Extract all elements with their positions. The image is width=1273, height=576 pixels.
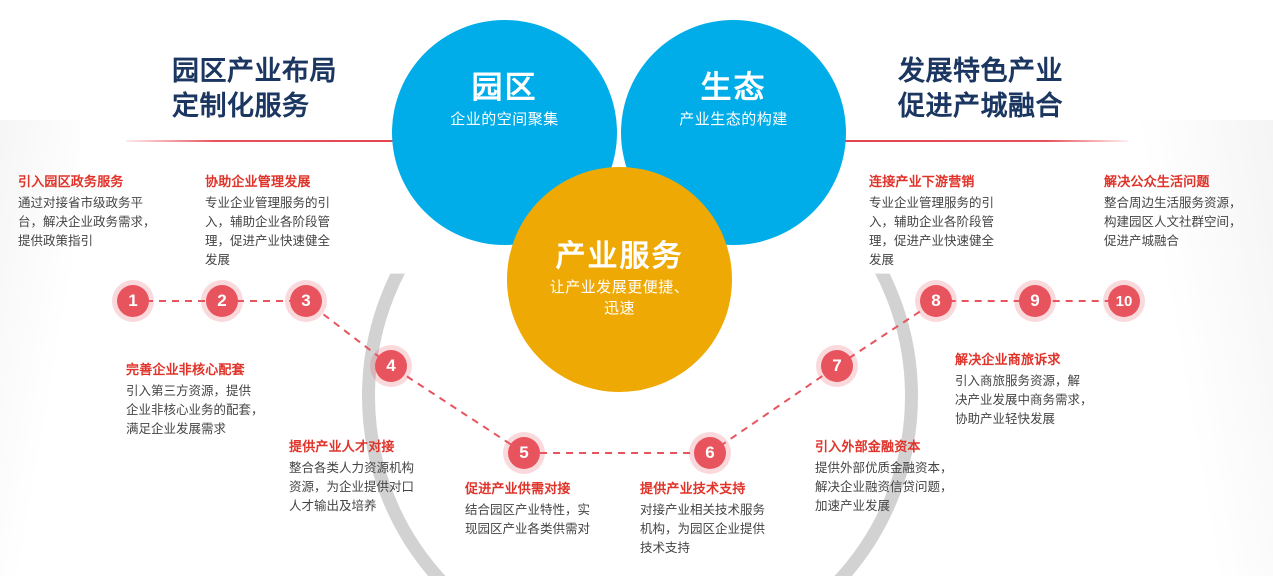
text-block-heading: 连接产业下游营销 <box>869 172 1047 192</box>
step-node-label: 3 <box>301 291 310 311</box>
text-block-body: 结合园区产业特性，实 现园区产业各类供需对 <box>465 501 635 539</box>
step-node-10[interactable]: 10 <box>1108 285 1140 317</box>
step-node-8[interactable]: 8 <box>920 285 952 317</box>
step-node-1[interactable]: 1 <box>117 285 149 317</box>
step-node-3[interactable]: 3 <box>290 285 322 317</box>
step-node-label: 1 <box>128 291 137 311</box>
step-node-9[interactable]: 9 <box>1019 285 1051 317</box>
text-block-provide-talent-matching: 提供产业人才对接整合各类人力资源机构 资源，为企业提供对口 人才输出及培养 <box>289 437 469 516</box>
bubble-ecosystem-subtitle: 产业生态的构建 <box>679 110 788 130</box>
text-block-body: 整合周边生活服务资源， 构建园区人文社群空间， 促进产城融合 <box>1104 194 1273 251</box>
step-node-label: 9 <box>1030 291 1039 311</box>
text-block-solve-business-travel: 解决企业商旅诉求引入商旅服务资源，解 决产业发展中商务需求， 协助产业轻快发展 <box>955 350 1145 429</box>
text-block-solve-public-living: 解决公众生活问题整合周边生活服务资源， 构建园区人文社群空间， 促进产城融合 <box>1104 172 1273 251</box>
text-block-provide-tech-support: 提供产业技术支持对接产业相关技术服务 机构，为园区企业提供 技术支持 <box>640 479 815 558</box>
text-block-heading: 引入外部金融资本 <box>815 437 1005 457</box>
step-node-label: 10 <box>1116 293 1133 310</box>
bubble-industry-service-title: 产业服务 <box>556 240 684 273</box>
text-block-heading: 促进产业供需对接 <box>465 479 635 499</box>
bubble-ecosystem-title: 生态 <box>701 71 767 105</box>
bubble-industry-service[interactable]: 产业服务 让产业发展更便捷、迅速 <box>507 167 732 392</box>
step-node-6[interactable]: 6 <box>694 437 726 469</box>
step-node-label: 6 <box>705 443 714 463</box>
text-block-body: 提供外部优质金融资本， 解决企业融资信贷问题， 加速产业发展 <box>815 459 1005 516</box>
infographic-canvas: 园区产业布局 定制化服务 发展特色产业 促进产城融合 园区 企业的空间聚集 生态… <box>0 0 1273 576</box>
text-block-body: 专业企业管理服务的引 入，辅助企业各阶段管 理，促进产业快速健全 发展 <box>205 194 383 270</box>
bubble-park-subtitle: 企业的空间聚集 <box>450 110 559 130</box>
step-node-label: 2 <box>217 291 226 311</box>
text-block-heading: 提供产业人才对接 <box>289 437 469 457</box>
text-block-body: 整合各类人力资源机构 资源，为企业提供对口 人才输出及培养 <box>289 459 469 516</box>
text-block-body: 引入第三方资源，提供 企业非核心业务的配套， 满足企业发展需求 <box>126 382 316 439</box>
text-block-promote-supply-demand: 促进产业供需对接结合园区产业特性，实 现园区产业各类供需对 <box>465 479 635 539</box>
step-node-label: 7 <box>832 356 841 376</box>
section-title-left: 园区产业布局 定制化服务 <box>172 54 337 124</box>
text-block-heading: 解决公众生活问题 <box>1104 172 1273 192</box>
section-title-right: 发展特色产业 促进产城融合 <box>898 54 1063 124</box>
text-block-body: 专业企业管理服务的引 入，辅助企业各阶段管 理，促进产业快速健全 发展 <box>869 194 1047 270</box>
step-node-5[interactable]: 5 <box>508 437 540 469</box>
step-node-label: 4 <box>386 356 395 376</box>
step-node-label: 8 <box>931 291 940 311</box>
step-node-2[interactable]: 2 <box>206 285 238 317</box>
step-node-label: 5 <box>519 443 528 463</box>
text-block-intro-government-service: 引入园区政务服务通过对接省市级政务平 台，解决企业政务需求， 提供政策指引 <box>18 172 196 251</box>
text-block-introduce-external-capital: 引入外部金融资本提供外部优质金融资本， 解决企业融资信贷问题， 加速产业发展 <box>815 437 1005 516</box>
text-block-body: 引入商旅服务资源，解 决产业发展中商务需求， 协助产业轻快发展 <box>955 372 1145 429</box>
text-block-connect-downstream-marketing: 连接产业下游营销专业企业管理服务的引 入，辅助企业各阶段管 理，促进产业快速健全… <box>869 172 1047 270</box>
text-block-heading: 完善企业非核心配套 <box>126 360 316 380</box>
text-block-body: 对接产业相关技术服务 机构，为园区企业提供 技术支持 <box>640 501 815 558</box>
text-block-body: 通过对接省市级政务平 台，解决企业政务需求， 提供政策指引 <box>18 194 196 251</box>
step-node-7[interactable]: 7 <box>821 350 853 382</box>
text-block-heading: 解决企业商旅诉求 <box>955 350 1145 370</box>
text-block-heading: 引入园区政务服务 <box>18 172 196 192</box>
text-block-heading: 协助企业管理发展 <box>205 172 383 192</box>
text-block-heading: 提供产业技术支持 <box>640 479 815 499</box>
divider-rule-right <box>836 140 1128 142</box>
text-block-assist-enterprise-management: 协助企业管理发展专业企业管理服务的引 入，辅助企业各阶段管 理，促进产业快速健全… <box>205 172 383 270</box>
bubble-park-title: 园区 <box>472 71 538 105</box>
text-block-improve-noncore-support: 完善企业非核心配套引入第三方资源，提供 企业非核心业务的配套， 满足企业发展需求 <box>126 360 316 439</box>
bubble-industry-service-subtitle: 让产业发展更便捷、迅速 <box>545 278 695 319</box>
step-node-4[interactable]: 4 <box>375 350 407 382</box>
